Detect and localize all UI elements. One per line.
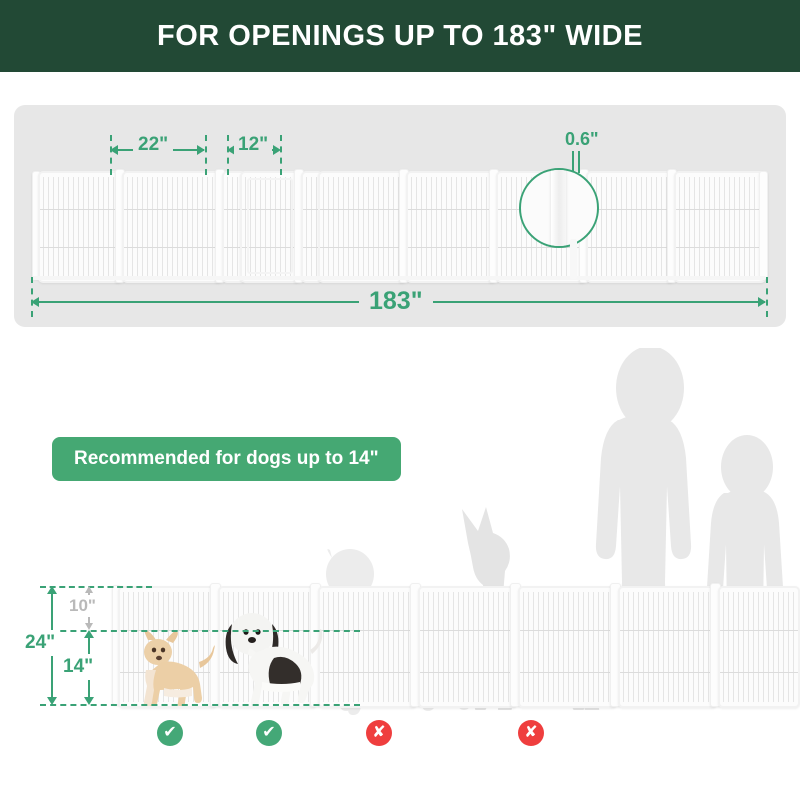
dimension-label-total-width: 183"	[359, 287, 433, 316]
dimension-label-total-height: 24"	[22, 630, 58, 656]
fence-rail	[720, 672, 798, 673]
fence-panel-wide	[318, 171, 406, 283]
arrow-head-up-icon	[84, 630, 94, 638]
fence-bars	[323, 177, 401, 277]
dimension-extension-line	[110, 135, 112, 175]
fence-bars	[411, 177, 491, 277]
fence-panel-wide	[122, 171, 222, 283]
dimension-label-panel-wide: 22"	[133, 134, 173, 156]
fence-panel	[718, 586, 800, 708]
fence-bars	[591, 177, 669, 277]
fence-rail	[420, 630, 515, 631]
fence-base-line	[32, 276, 766, 280]
callout-bar-below	[570, 239, 577, 279]
fence-bars	[723, 592, 795, 702]
arrow-head-up-icon	[85, 586, 93, 593]
verdict-check-icon: ✔	[157, 720, 183, 746]
fence-panel	[418, 586, 517, 708]
fence-panel	[618, 586, 717, 708]
verdict-check-icon: ✔	[256, 720, 282, 746]
fence-bars	[323, 592, 412, 702]
height-comparison-scene: 24" 10" 14" ✔ ✔ ✘ ✘	[0, 330, 800, 800]
magnifier-callout-circle	[519, 168, 599, 248]
fence-rail	[620, 672, 715, 673]
fence-rail	[720, 630, 798, 631]
verdict-cross-icon: ✘	[366, 720, 392, 746]
fence-rail	[588, 209, 672, 210]
dimension-extension-line	[205, 135, 207, 175]
callout-leader-line	[578, 151, 580, 173]
fence-bars	[523, 592, 612, 702]
fence-panel-wide	[406, 171, 496, 283]
gate-inner-frame	[247, 178, 293, 274]
verdict-symbol: ✔	[262, 725, 275, 741]
arrow-head-down-icon	[85, 623, 93, 630]
verdict-symbol: ✘	[524, 725, 537, 741]
dimension-label-panel-narrow: 12"	[234, 134, 272, 156]
fence-rail	[676, 247, 764, 248]
arrow-head-left-icon	[110, 145, 118, 155]
dimension-extension-line	[280, 135, 282, 175]
fence-rail	[620, 630, 715, 631]
chihuahua-image	[128, 630, 218, 706]
fence-rail	[124, 247, 220, 248]
fence-bars	[679, 177, 761, 277]
page-title: FOR OPENINGS UP TO 183" WIDE	[157, 22, 643, 51]
verdict-cross-icon: ✘	[518, 720, 544, 746]
header-banner: FOR OPENINGS UP TO 183" WIDE	[0, 0, 800, 72]
fence-rail	[420, 672, 515, 673]
fence-gate-panel	[240, 171, 300, 283]
fence-bars	[43, 177, 117, 277]
fence-rail	[520, 672, 615, 673]
fence-bars	[127, 177, 217, 277]
spec-diagram-card: 22" 12" 0.6" 183"	[14, 105, 786, 327]
fence-rail	[588, 247, 672, 248]
fence-rail	[320, 672, 415, 673]
fence-rail	[408, 247, 494, 248]
fence-panel	[318, 586, 417, 708]
fence-rail	[408, 209, 494, 210]
fence-bar-magnified	[551, 168, 566, 248]
dimension-label-upper-gap: 10"	[66, 595, 99, 617]
arrow-head-right-icon	[273, 145, 281, 155]
fence-panel	[518, 586, 617, 708]
dimension-extension-line	[227, 135, 229, 175]
fence-bars	[306, 177, 318, 277]
fence-post	[759, 171, 768, 279]
fence-rail	[676, 209, 764, 210]
fence-rail	[520, 630, 615, 631]
fence-bars	[423, 592, 512, 702]
verdict-symbol: ✘	[372, 725, 385, 741]
arrow-head-right-icon	[197, 145, 205, 155]
fence-panel-wide	[674, 171, 766, 283]
arrow-head-down-icon	[84, 697, 94, 705]
fence-bars	[227, 177, 241, 277]
dimension-label-bar-thickness: 0.6"	[565, 129, 599, 150]
fence-rail	[320, 209, 404, 210]
dimension-label-dog-height: 14"	[60, 654, 96, 680]
arrow-head-right-icon	[758, 297, 766, 307]
fence-bars	[623, 592, 712, 702]
shih-tzu-image	[216, 608, 326, 706]
arrow-head-up-icon	[47, 586, 57, 594]
verdict-symbol: ✔	[163, 725, 176, 741]
dimension-extension-line	[766, 277, 768, 317]
arrow-head-down-icon	[47, 697, 57, 705]
fence-rail	[320, 247, 404, 248]
arrow-head-left-icon	[31, 297, 39, 307]
fence-panel-wide	[38, 171, 122, 283]
fence-rail	[124, 209, 220, 210]
fence-panel-wide	[586, 171, 674, 283]
fence-rail	[40, 247, 120, 248]
fence-rail	[40, 209, 120, 210]
